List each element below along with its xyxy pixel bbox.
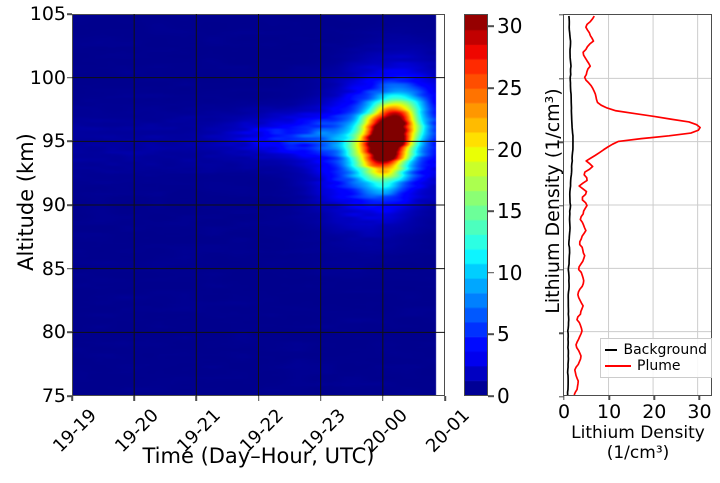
colorbar-tick-label-25: 25 — [497, 76, 522, 100]
profile-ytick-mark — [559, 396, 564, 397]
heatmap-ytick-mark — [67, 13, 72, 15]
profile-ytick-mark — [559, 205, 564, 206]
profile-xtick-label-0: 0 — [558, 401, 570, 423]
legend-item-background: Background — [605, 342, 707, 358]
colorbar-tick-mark — [488, 26, 494, 28]
colorbar-gradient — [464, 14, 488, 396]
heatmap-xtick-mark — [258, 396, 260, 401]
profile-legend: Background Plume — [600, 338, 712, 378]
heatmap-xtick-mark — [444, 396, 446, 401]
colorbar-tick-label-5: 5 — [497, 322, 510, 346]
colorbar-tick-mark — [488, 87, 494, 89]
profile-xtick-label-30: 30 — [687, 401, 711, 423]
colorbar-tick-mark — [488, 272, 494, 274]
profile-ytick-mark — [559, 333, 564, 334]
profile-xtick-mark — [654, 395, 655, 400]
profile-xaxis-title: Lithium Density (1/cm³) — [556, 424, 720, 463]
colorbar-title: Lithium Density (1/cm³) — [542, 51, 564, 351]
heatmap-ytick-mark — [67, 77, 72, 79]
heatmap-xtick-mark — [320, 396, 322, 401]
heatmap-ytick-label-105: 105 — [30, 3, 66, 25]
profile-xaxis-title-line1: Lithium Density — [556, 424, 720, 444]
profile-xtick-mark — [699, 395, 700, 400]
profile-ytick-mark — [559, 78, 564, 79]
profile-ytick-mark — [559, 142, 564, 143]
heatmap-ytick-label-90: 90 — [42, 194, 66, 216]
profile-ytick-mark — [559, 269, 564, 270]
colorbar-tick-label-0: 0 — [497, 384, 510, 408]
colorbar-tick-mark — [488, 334, 494, 336]
heatmap-ytick-label-75: 75 — [42, 385, 66, 407]
legend-item-plume: Plume — [605, 358, 707, 374]
heatmap-ytick-mark — [67, 204, 72, 206]
legend-swatch-background — [605, 349, 617, 351]
profile-ytick-mark — [559, 14, 564, 15]
heatmap-ytick-mark — [67, 268, 72, 270]
heatmap-xaxis-title: Time (Day–Hour, UTC) — [72, 444, 445, 468]
heatmap-ytick-label-95: 95 — [42, 130, 66, 152]
colorbar-tick-mark — [488, 149, 494, 151]
legend-label-background: Background — [623, 342, 707, 358]
heatmap-xtick-mark — [382, 396, 384, 401]
heatmap-ytick-mark — [67, 332, 72, 334]
heatmap-xtick-mark — [196, 396, 198, 401]
legend-label-plume: Plume — [637, 358, 680, 374]
legend-swatch-plume — [605, 365, 631, 367]
profile-xtick-mark — [608, 395, 609, 400]
colorbar-tick-label-30: 30 — [497, 14, 522, 38]
heatmap-ytick-label-85: 85 — [42, 258, 66, 280]
colorbar-tick-mark — [488, 395, 494, 397]
heatmap-ytick-mark — [67, 141, 72, 143]
heatmap-yaxis-title: Altitude (km) — [14, 72, 38, 332]
colorbar-tick-label-10: 10 — [497, 261, 522, 285]
colorbar-tick-mark — [488, 210, 494, 212]
colorbar: 051015202530 — [464, 14, 488, 396]
colorbar-tick-label-15: 15 — [497, 199, 522, 223]
heatmap-xtick-mark — [133, 396, 135, 401]
heatmap-xtick-mark — [71, 396, 73, 401]
profile-series-background — [568, 16, 573, 395]
profile-xtick-label-10: 10 — [597, 401, 621, 423]
heatmap-ytick-label-80: 80 — [42, 321, 66, 343]
profile-xaxis-title-line2: (1/cm³) — [556, 444, 720, 464]
heatmap-axes-ticks: 758085909510010519-1919-2019-2119-2219-2… — [72, 14, 445, 396]
colorbar-tick-label-20: 20 — [497, 138, 522, 162]
profile-xtick-label-20: 20 — [642, 401, 666, 423]
